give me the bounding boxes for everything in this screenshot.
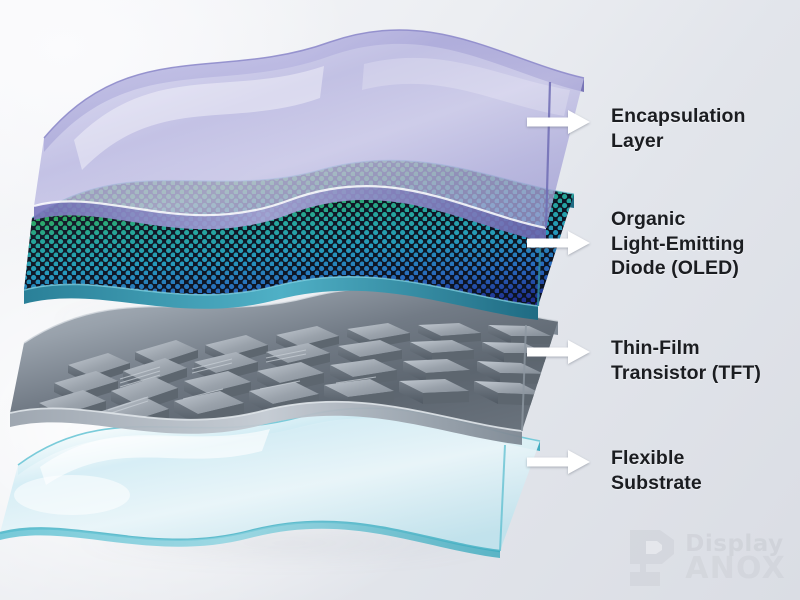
watermark-logo: Display ANOX: [626, 528, 786, 588]
watermark-text: Display ANOX: [685, 535, 786, 581]
label-oled: Organic Light-Emitting Diode (OLED): [611, 207, 745, 281]
arrow-tft: [527, 338, 591, 366]
label-substrate: Flexible Substrate: [611, 446, 702, 495]
label-tft: Thin-Film Transistor (TFT): [611, 336, 761, 385]
watermark-line1: Display: [685, 535, 786, 554]
arrow-substrate: [527, 448, 591, 476]
watermark-line2: ANOX: [685, 556, 786, 581]
diagram-canvas: Encapsulation Layer Organic Light-Emitti…: [0, 0, 800, 600]
layer-encapsulation[interactable]: [34, 20, 594, 270]
label-encapsulation: Encapsulation Layer: [611, 104, 746, 153]
arrow-encapsulation: [527, 108, 591, 136]
panox-p-mark-icon: [626, 528, 678, 588]
arrow-oled: [527, 229, 591, 257]
